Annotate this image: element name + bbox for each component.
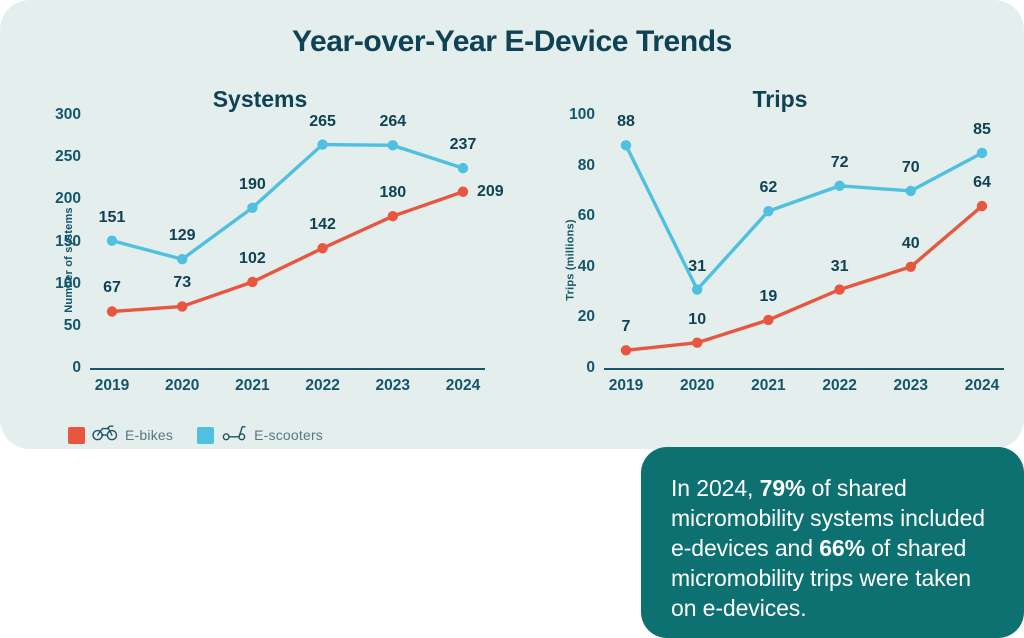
series-line-e-bikes [112,192,463,312]
x-tick-label: 2024 [965,377,999,395]
x-tick-label: 2022 [822,377,856,395]
data-point [906,186,916,196]
x-tick-label: 2023 [894,377,928,395]
x-tick-label: 2023 [376,377,410,395]
data-point [388,140,398,150]
data-point [834,284,844,294]
data-label: 129 [169,227,196,245]
x-tick-label: 2021 [235,377,269,395]
legend-swatch-escooters [197,427,214,444]
data-label: 64 [973,174,991,192]
data-point [763,206,773,216]
callout-span: In 2024, [671,475,760,501]
data-point [763,315,773,325]
data-label: 67 [103,279,121,297]
data-point [834,181,844,191]
data-point [692,338,702,348]
data-label: 31 [831,258,849,276]
plot-area-trips: 0204060801002019202020212022202320247101… [604,115,1004,368]
data-point [317,139,327,149]
y-tick-label: 250 [55,148,81,166]
data-label: 19 [759,288,777,306]
x-tick-label: 2021 [751,377,785,395]
plot-area-systems: 0501001502002503002019202020212022202320… [90,115,485,368]
series-line-e-scooters [626,145,982,289]
data-label: 265 [309,113,336,131]
x-tick-label: 2020 [680,377,714,395]
data-point [107,235,117,245]
page-title: Year-over-Year E-Device Trends [0,25,1024,59]
callout-highlight: 66% [819,535,865,561]
y-tick-label: 60 [578,207,595,225]
scooter-icon [221,424,247,446]
legend-item-escooters[interactable]: E-scooters [197,424,323,446]
data-label: 40 [902,235,920,253]
y-tick-label: 150 [55,233,81,251]
data-point [458,163,468,173]
chart-trips: Trips (millions) 02040608010020192020202… [528,115,1018,405]
data-label: 264 [379,113,406,131]
callout-box: In 2024, 79% of shared micromobility sys… [641,447,1024,638]
data-point [177,301,187,311]
data-point [906,262,916,272]
data-label: 62 [759,179,777,197]
data-label: 209 [477,183,504,201]
data-point [692,284,702,294]
chart-title-trips: Trips [580,86,980,113]
data-label: 70 [902,159,920,177]
data-label: 72 [831,154,849,172]
y-tick-label: 80 [578,157,595,175]
series-lines [604,115,1004,368]
data-label: 85 [973,121,991,139]
data-label: 31 [688,258,706,276]
y-tick-label: 300 [55,106,81,124]
chart-title-systems: Systems [60,86,460,113]
y-tick-label: 50 [64,317,81,335]
y-tick-label: 0 [586,359,595,377]
series-line-e-scooters [112,145,463,260]
y-tick-label: 100 [569,106,595,124]
data-label: 7 [622,318,631,336]
legend-label-ebikes: E-bikes [125,427,173,443]
data-point [247,203,257,213]
data-label: 73 [173,274,191,292]
bicycle-icon [92,424,118,446]
series-lines [90,115,485,368]
data-point [388,211,398,221]
x-tick-label: 2024 [446,377,480,395]
data-point [621,345,631,355]
data-point [621,140,631,150]
y-tick-label: 100 [55,275,81,293]
x-tick-label: 2020 [165,377,199,395]
x-axis-line [90,368,485,370]
y-tick-label: 200 [55,190,81,208]
y-axis-title-trips: Trips (millions) [565,219,577,300]
y-tick-label: 0 [72,359,81,377]
legend-swatch-ebikes [68,427,85,444]
data-point [458,187,468,197]
series-line-e-bikes [626,206,982,350]
data-label: 237 [450,136,477,154]
data-point [177,254,187,264]
x-axis-line [604,368,1004,370]
data-point [247,277,257,287]
callout-text: In 2024, 79% of shared micromobility sys… [671,473,996,623]
x-tick-label: 2019 [609,377,643,395]
legend-label-escooters: E-scooters [254,427,323,443]
data-point [107,306,117,316]
x-tick-label: 2022 [305,377,339,395]
data-label: 151 [99,209,126,227]
data-label: 10 [688,311,706,329]
y-tick-label: 20 [578,308,595,326]
y-axis-title-systems: Number of systems [63,207,75,313]
y-tick-label: 40 [578,258,595,276]
legend: E-bikes E-scooters [68,424,323,446]
data-label: 102 [239,250,266,268]
chart-systems: Number of systems 0501001502002503002019… [12,115,512,405]
data-point [977,148,987,158]
data-label: 190 [239,176,266,194]
data-label: 180 [379,184,406,202]
callout-highlight: 79% [760,475,806,501]
data-point [317,243,327,253]
data-label: 88 [617,113,635,131]
x-tick-label: 2019 [95,377,129,395]
data-label: 142 [309,216,336,234]
data-point [977,201,987,211]
legend-item-ebikes[interactable]: E-bikes [68,424,173,446]
